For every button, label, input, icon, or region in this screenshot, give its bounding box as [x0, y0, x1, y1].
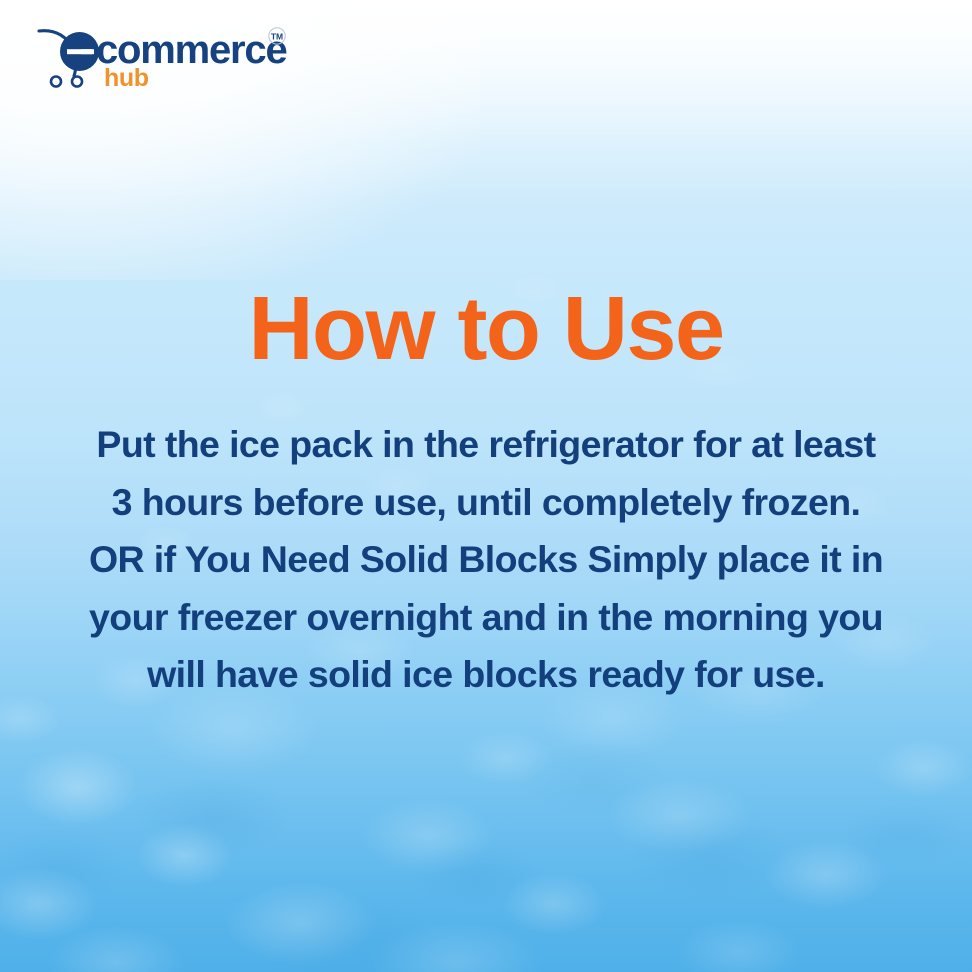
content-block: How to Use Put the ice pack in the refri…	[0, 284, 972, 704]
instructions-line: OR if You Need Solid Blocks Simply place…	[0, 531, 972, 589]
instructions-line: your freezer overnight and in the mornin…	[0, 589, 972, 647]
poster-canvas: commerce TM hub How to Use Put the ice p…	[0, 0, 972, 972]
instructions-paragraph: Put the ice pack in the refrigerator for…	[0, 416, 972, 704]
instructions-line: 3 hours before use, until completely fro…	[0, 474, 972, 532]
svg-text:TM: TM	[271, 32, 283, 42]
ecommerce-cart-logo-icon: commerce TM hub	[26, 18, 294, 90]
instructions-line: Put the ice pack in the refrigerator for…	[0, 416, 972, 474]
svg-text:hub: hub	[104, 64, 149, 90]
instructions-line: will have solid ice blocks ready for use…	[0, 646, 972, 704]
page-title: How to Use	[0, 284, 972, 374]
brand-logo[interactable]: commerce TM hub	[26, 18, 294, 90]
